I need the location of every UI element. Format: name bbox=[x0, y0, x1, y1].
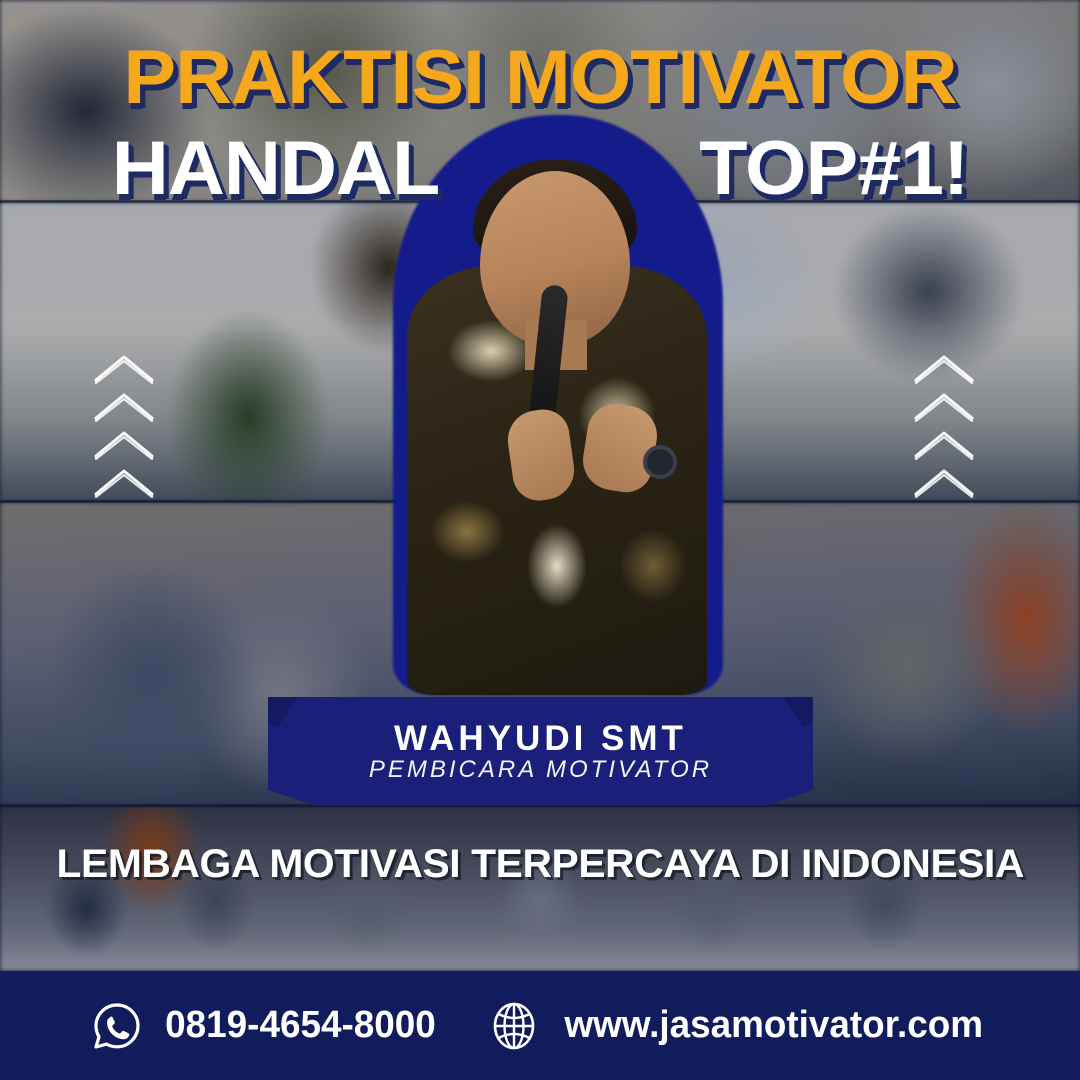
chevron-up-icon bbox=[92, 466, 156, 498]
speaker-role: PEMBICARA MOTIVATOR bbox=[369, 758, 712, 782]
globe-icon bbox=[488, 1000, 540, 1052]
photo-group-photo-pelatihan bbox=[0, 806, 1080, 971]
phone-number: 0819-4654-8000 bbox=[165, 1004, 436, 1047]
chevron-up-icon bbox=[912, 428, 976, 460]
poster-canvas: PRAKTISI MOTIVATOR HANDALTOP#1! bbox=[0, 0, 1080, 1080]
contact-website[interactable]: www.jasamotivator.com bbox=[488, 1000, 990, 1052]
speaker-name-ribbon: WAHYUDI SMT PEMBICARA MOTIVATOR bbox=[268, 697, 813, 805]
website-url: www.jasamotivator.com bbox=[564, 1004, 983, 1047]
chevron-up-icon bbox=[92, 428, 156, 460]
chevron-up-icon bbox=[92, 352, 156, 384]
contact-phone[interactable]: 0819-4654-8000 bbox=[91, 1000, 440, 1052]
speaker-cutout bbox=[385, 115, 730, 705]
ribbon-text-block: WAHYUDI SMT PEMBICARA MOTIVATOR bbox=[268, 697, 813, 805]
chevron-up-icon bbox=[912, 466, 976, 498]
chevron-group-left bbox=[92, 352, 156, 498]
chevron-up-icon bbox=[92, 390, 156, 422]
chevron-up-icon bbox=[912, 390, 976, 422]
footer-contact-bar: 0819-4654-8000 www.jasamotivator.com bbox=[0, 971, 1080, 1080]
chevron-group-right bbox=[912, 352, 976, 498]
photo-color-grade bbox=[0, 806, 1080, 971]
whatsapp-phone-icon bbox=[91, 1000, 143, 1052]
speaker-name: WAHYUDI SMT bbox=[394, 721, 687, 756]
chevron-up-icon bbox=[912, 352, 976, 384]
wristwatch bbox=[643, 445, 677, 479]
